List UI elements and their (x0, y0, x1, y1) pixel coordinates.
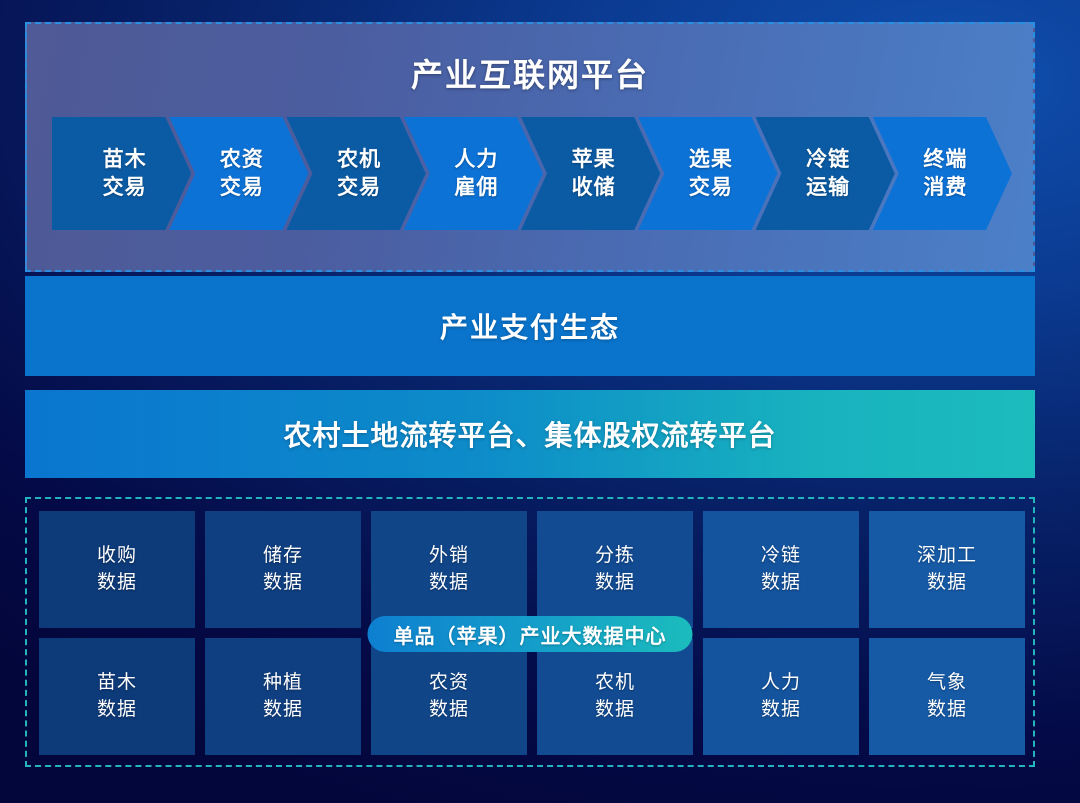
chevron-step-8-label: 终端 消费 (917, 146, 967, 201)
data-card-agri-materials[interactable]: 农资 数据 (371, 638, 527, 755)
data-card-storage[interactable]: 储存 数据 (205, 511, 361, 628)
chevron-step-2-label: 农资 交易 (214, 146, 264, 201)
chevron-step-1-label: 苗木 交易 (97, 146, 147, 201)
payment-ecosystem-band: 产业支付生态 (25, 276, 1035, 376)
data-card-weather[interactable]: 气象 数据 (869, 638, 1025, 755)
chevron-step-1[interactable]: 苗木 交易 (52, 117, 191, 230)
data-row-bottom: 苗木 数据 种植 数据 农资 数据 农机 数据 人力 数据 气象 数据 (39, 638, 1025, 755)
big-data-center-badge: 单品（苹果）产业大数据中心 (368, 616, 693, 652)
data-card-seedling[interactable]: 苗木 数据 (39, 638, 195, 755)
data-card-labor[interactable]: 人力 数据 (703, 638, 859, 755)
data-card-purchase[interactable]: 收购 数据 (39, 511, 195, 628)
data-card-planting[interactable]: 种植 数据 (205, 638, 361, 755)
chevron-step-6-label: 选果 交易 (683, 146, 733, 201)
chevron-step-3-label: 农机 交易 (331, 146, 381, 201)
industrial-internet-platform-panel: 产业互联网平台 苗木 交易 农资 交易 农机 交易 人力 雇佣 苹果 收储 选果… (25, 22, 1035, 272)
chevron-step-5-label: 苹果 收储 (566, 146, 616, 201)
payment-ecosystem-label: 产业支付生态 (440, 306, 620, 346)
chevron-step-7-label: 冷链 运输 (800, 146, 850, 201)
data-card-export-sales[interactable]: 外销 数据 (371, 511, 527, 628)
diagram-canvas: 产业互联网平台 苗木 交易 农资 交易 农机 交易 人力 雇佣 苹果 收储 选果… (0, 0, 1080, 803)
data-card-agri-machinery[interactable]: 农机 数据 (537, 638, 693, 755)
big-data-center-panel: 收购 数据 储存 数据 外销 数据 分拣 数据 冷链 数据 深加工 数据 苗木 … (25, 497, 1035, 767)
chevron-step-4-label: 人力 雇佣 (448, 146, 498, 201)
land-transfer-platform-label: 农村土地流转平台、集体股权流转平台 (283, 414, 776, 454)
data-card-cold-chain[interactable]: 冷链 数据 (703, 511, 859, 628)
data-card-sorting[interactable]: 分拣 数据 (537, 511, 693, 628)
data-row-top: 收购 数据 储存 数据 外销 数据 分拣 数据 冷链 数据 深加工 数据 (39, 511, 1025, 628)
land-transfer-platform-band: 农村土地流转平台、集体股权流转平台 (25, 390, 1035, 478)
value-chain-chevron-row: 苗木 交易 农资 交易 农机 交易 人力 雇佣 苹果 收储 选果 交易 冷链 运… (52, 117, 1012, 230)
data-card-deep-processing[interactable]: 深加工 数据 (869, 511, 1025, 628)
page-title: 产业互联网平台 (27, 50, 1033, 96)
